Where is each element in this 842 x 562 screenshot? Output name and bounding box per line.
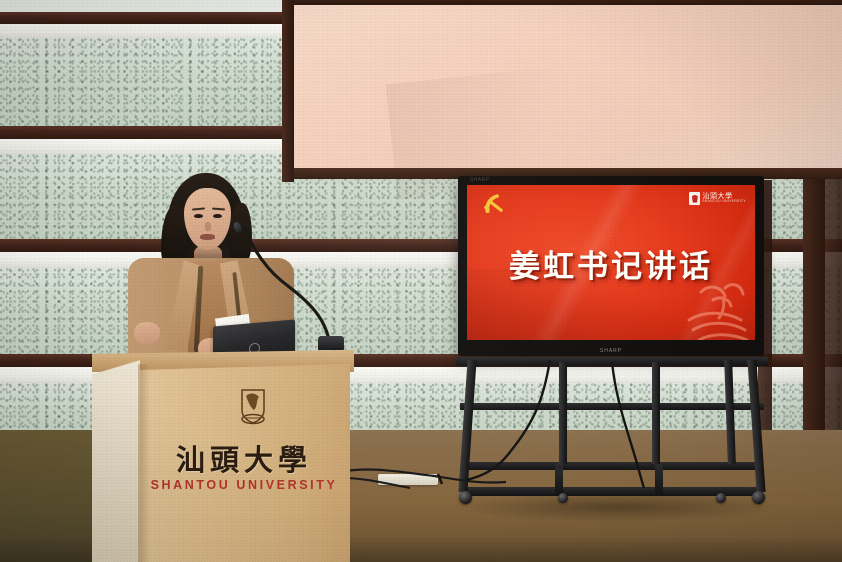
- display-bezel-marking: SHARP: [470, 177, 489, 183]
- display-bezel-indicator: · · ·: [744, 177, 754, 183]
- slide-title: 姜虹书记讲话: [467, 241, 755, 286]
- university-logo-name-en: SHANTOU UNIVERSITY: [702, 200, 746, 203]
- podium-side-panel: [92, 356, 140, 562]
- speaker-hand: [134, 322, 160, 344]
- speaker-mouth: [200, 234, 215, 240]
- speaker-eye: [194, 214, 203, 218]
- projection-screen: [292, 5, 842, 171]
- speaker-nose: [205, 222, 211, 231]
- display-brand-label: SHARP: [600, 348, 622, 354]
- university-logo: 汕頭大學 SHANTOU UNIVERSITY: [689, 192, 746, 205]
- podium-university-name-en: SHANTOU UNIVERSITY: [140, 478, 348, 492]
- university-shield-icon: [689, 192, 700, 205]
- cart-caster: [752, 491, 765, 504]
- cpc-hammer-sickle-icon: [481, 192, 511, 218]
- projection-screen-left-frame: [282, 0, 294, 182]
- microphone-gooseneck: [236, 226, 348, 352]
- floor-cable: [330, 458, 530, 502]
- podium-university-name-cn: 汕頭大學: [140, 437, 348, 479]
- microphone-base: [318, 336, 344, 350]
- display-screen: 汕頭大學 SHANTOU UNIVERSITY 姜虹书记讲话: [467, 185, 755, 340]
- flat-panel-display: SHARP · · · 汕頭大學 SHANTOU UNIVERSITY: [458, 176, 764, 356]
- speaker-eye: [213, 214, 222, 218]
- presentation-photo: SHARP · · · 汕頭大學 SHANTOU UNIVERSITY: [0, 0, 842, 562]
- shantou-university-crest-icon: [236, 386, 270, 426]
